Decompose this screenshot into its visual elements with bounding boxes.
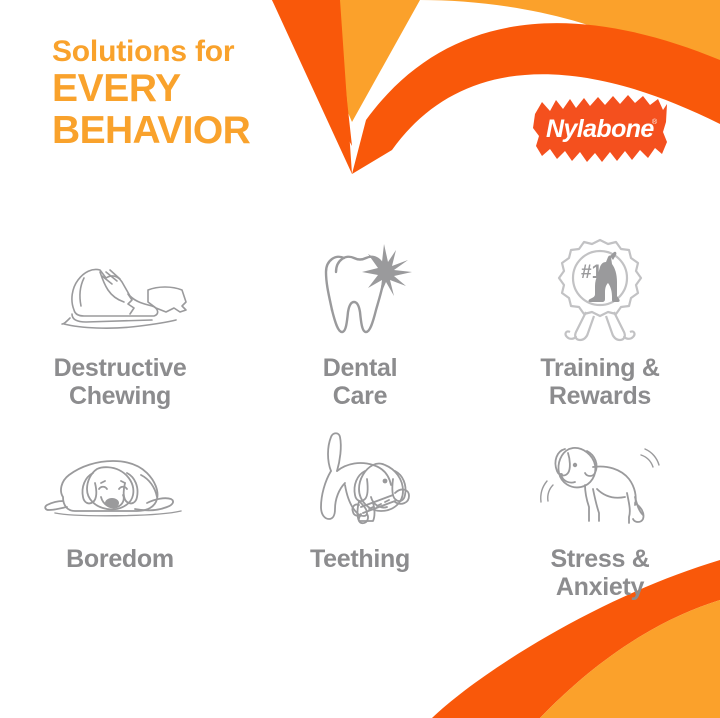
benefit-label: Stress & Anxiety [550, 545, 649, 601]
nylabone-logo: Nylabone ® [530, 92, 670, 168]
promotional-poster: Solutions for EVERY BEHAVIOR Nylabone ® [0, 0, 720, 718]
bored-lying-dog-icon [35, 431, 205, 531]
benefit-destructive-chewing: Destructive Chewing [0, 236, 240, 431]
logo-wordmark: Nylabone [546, 115, 654, 143]
benefit-teething: Teething [240, 431, 480, 626]
benefit-boredom: Boredom [0, 431, 240, 626]
nylabone-logo-svg: Nylabone ® [530, 92, 670, 168]
benefit-label: Teething [310, 545, 410, 573]
benefit-training-rewards: #1 Training & Rewards [480, 236, 720, 431]
benefit-label: Destructive Chewing [54, 354, 187, 410]
benefit-stress-anxiety: Stress & Anxiety [480, 431, 720, 626]
headline-line-3: BEHAVIOR [52, 110, 352, 152]
benefit-label: Dental Care [323, 354, 398, 410]
chewed-shoe-icon [40, 236, 200, 344]
benefit-label: Training & Rewards [540, 354, 659, 410]
logo-trademark-symbol: ® [652, 118, 658, 126]
headline-line-2: EVERY [52, 68, 352, 110]
headline-line-1: Solutions for [52, 36, 352, 68]
benefits-grid: Destructive Chewing Dental Care [0, 236, 720, 626]
anxious-trembling-dog-icon [535, 431, 665, 531]
benefit-dental-care: Dental Care [240, 236, 480, 431]
number-one-award-badge-icon: #1 [540, 236, 660, 344]
benefit-label: Boredom [66, 545, 174, 573]
sparkling-tooth-icon [300, 236, 420, 344]
puppy-chewing-toy-icon [295, 431, 425, 531]
headline-block: Solutions for EVERY BEHAVIOR [52, 36, 352, 152]
